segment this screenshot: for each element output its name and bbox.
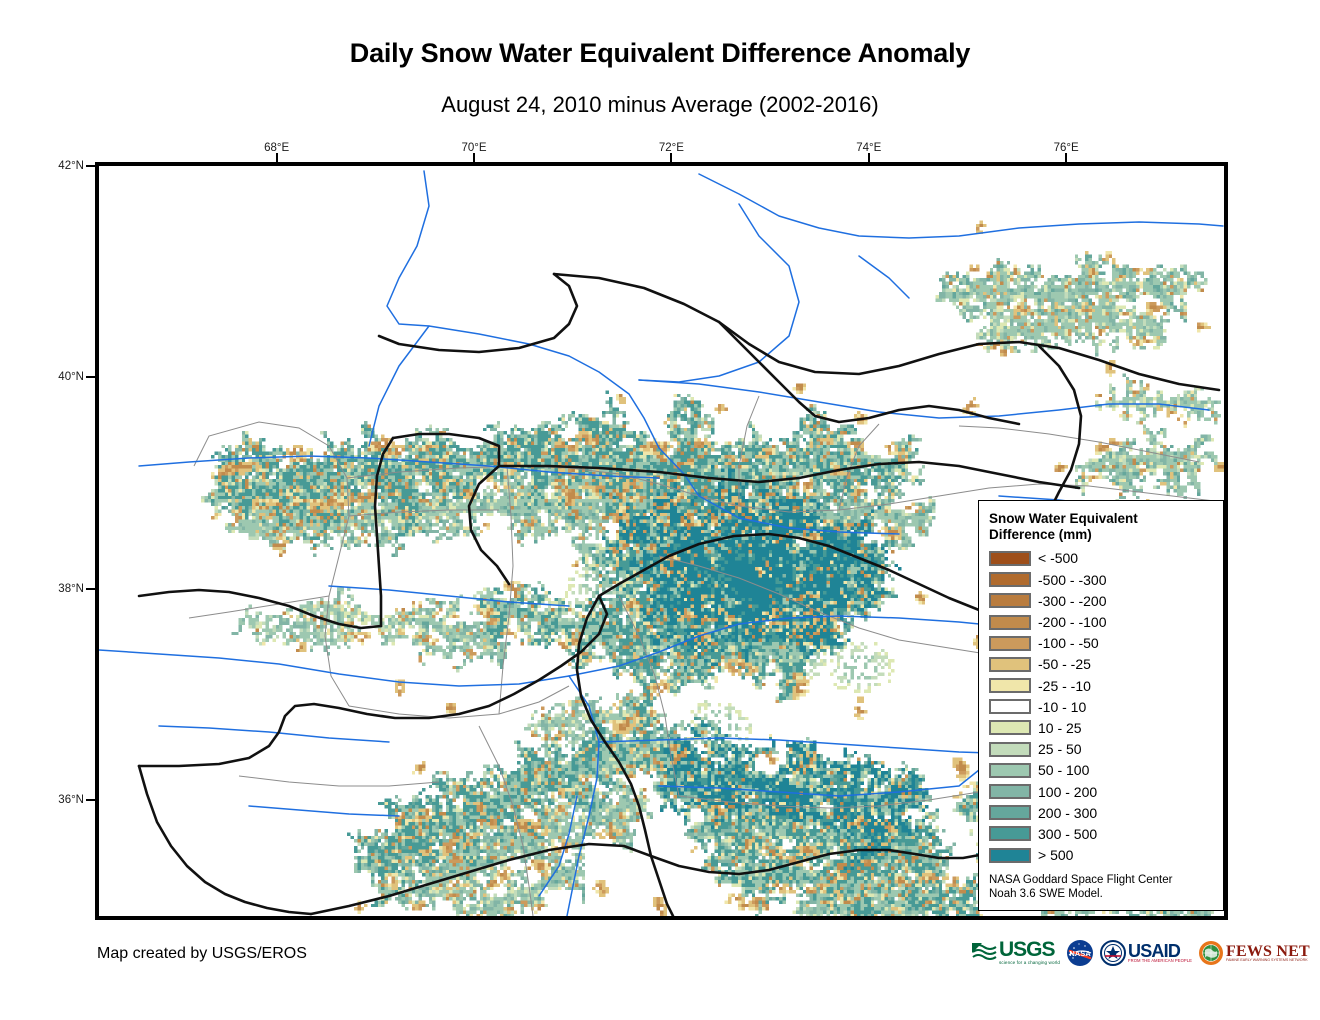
legend-swatch	[989, 805, 1031, 820]
y-tick-mark	[86, 376, 95, 378]
legend-label: -500 - -300	[1038, 573, 1106, 587]
usgs-logo-text: USGS	[999, 941, 1060, 960]
legend-title: Snow Water Equivalent Difference (mm)	[989, 511, 1213, 543]
legend-item: -25 - -10	[989, 675, 1213, 696]
usaid-logo-tagline: FROM THE AMERICAN PEOPLE	[1128, 959, 1192, 963]
legend-swatch	[989, 784, 1031, 799]
y-tick-label: 40°N	[44, 371, 84, 383]
legend-label: < -500	[1038, 551, 1078, 565]
nasa-logo: NASA	[1066, 936, 1094, 970]
x-tick-mark	[1065, 153, 1067, 162]
usgs-wave-icon	[972, 943, 998, 963]
legend-item: -100 - -50	[989, 633, 1213, 654]
legend-item: -10 - 10	[989, 696, 1213, 717]
fews-logo-tagline: FAMINE EARLY WARNING SYSTEMS NETWORK	[1226, 959, 1310, 963]
legend-label: > 500	[1038, 848, 1073, 862]
usaid-seal-icon	[1100, 940, 1126, 966]
legend-swatch	[989, 593, 1031, 608]
x-tick-mark	[473, 153, 475, 162]
x-tick-mark	[868, 153, 870, 162]
fews-logo-text: FEWS NET	[1226, 944, 1310, 959]
y-tick-label: 38°N	[44, 583, 84, 595]
legend-item: 200 - 300	[989, 802, 1213, 823]
legend-swatch	[989, 742, 1031, 757]
y-tick-mark	[86, 165, 95, 167]
legend-swatch	[989, 763, 1031, 778]
legend-item: 100 - 200	[989, 781, 1213, 802]
legend-swatch	[989, 848, 1031, 863]
legend-swatch	[989, 551, 1031, 566]
usgs-logo-tagline: science for a changing world	[999, 961, 1060, 966]
y-tick-label: 42°N	[44, 160, 84, 172]
legend-swatch	[989, 678, 1031, 693]
legend-swatch	[989, 572, 1031, 587]
usaid-logo-text: USAID	[1128, 943, 1192, 959]
legend-item: -50 - -25	[989, 654, 1213, 675]
legend-item: -300 - -200	[989, 590, 1213, 611]
legend-label: -300 - -200	[1038, 594, 1106, 608]
page-subtitle: August 24, 2010 minus Average (2002-2016…	[0, 92, 1320, 118]
fews-net-logo: FEWS NET FAMINE EARLY WARNING SYSTEMS NE…	[1198, 936, 1310, 970]
y-tick-mark	[86, 799, 95, 801]
legend-title-line2: Difference (mm)	[989, 527, 1213, 543]
legend-panel: Snow Water Equivalent Difference (mm) < …	[978, 500, 1224, 911]
map-credit: Map created by USGS/EROS	[97, 945, 307, 963]
legend-swatch	[989, 615, 1031, 630]
legend-item: -200 - -100	[989, 611, 1213, 632]
legend-label: 50 - 100	[1038, 763, 1089, 777]
legend-label: -200 - -100	[1038, 615, 1106, 629]
legend-source-note: NASA Goddard Space Flight Center Noah 3.…	[989, 873, 1213, 902]
legend-swatch	[989, 826, 1031, 841]
legend-swatch	[989, 657, 1031, 672]
legend-item: 25 - 50	[989, 739, 1213, 760]
x-tick-mark	[670, 153, 672, 162]
y-tick-mark	[86, 588, 95, 590]
legend-swatch	[989, 699, 1031, 714]
legend-label: 200 - 300	[1038, 806, 1097, 820]
legend-item: 10 - 25	[989, 717, 1213, 738]
svg-text:NASA: NASA	[1069, 949, 1091, 958]
legend-label: 300 - 500	[1038, 827, 1097, 841]
legend-label: -100 - -50	[1038, 636, 1099, 650]
legend-label: 10 - 25	[1038, 721, 1082, 735]
legend-title-line1: Snow Water Equivalent	[989, 511, 1213, 527]
legend-item: 50 - 100	[989, 760, 1213, 781]
legend-label: 100 - 200	[1038, 785, 1097, 799]
legend-items: < -500-500 - -300-300 - -200-200 - -100-…	[989, 548, 1213, 866]
page-title: Daily Snow Water Equivalent Difference A…	[0, 38, 1320, 69]
logo-bar: USGS science for a changing world NASA U…	[972, 936, 1310, 970]
legend-item: > 500	[989, 844, 1213, 865]
legend-item: -500 - -300	[989, 569, 1213, 590]
nasa-meatball-icon: NASA	[1066, 939, 1094, 967]
legend-item: < -500	[989, 548, 1213, 569]
legend-swatch	[989, 720, 1031, 735]
x-tick-mark	[276, 153, 278, 162]
legend-label: -10 - 10	[1038, 700, 1086, 714]
usaid-logo: USAID FROM THE AMERICAN PEOPLE	[1100, 936, 1192, 970]
legend-label: -25 - -10	[1038, 679, 1091, 693]
fews-globe-icon	[1198, 940, 1224, 966]
legend-label: -50 - -25	[1038, 657, 1091, 671]
legend-item: 300 - 500	[989, 823, 1213, 844]
legend-label: 25 - 50	[1038, 742, 1082, 756]
usgs-logo: USGS science for a changing world	[972, 936, 1060, 970]
y-tick-label: 36°N	[44, 794, 84, 806]
legend-swatch	[989, 636, 1031, 651]
